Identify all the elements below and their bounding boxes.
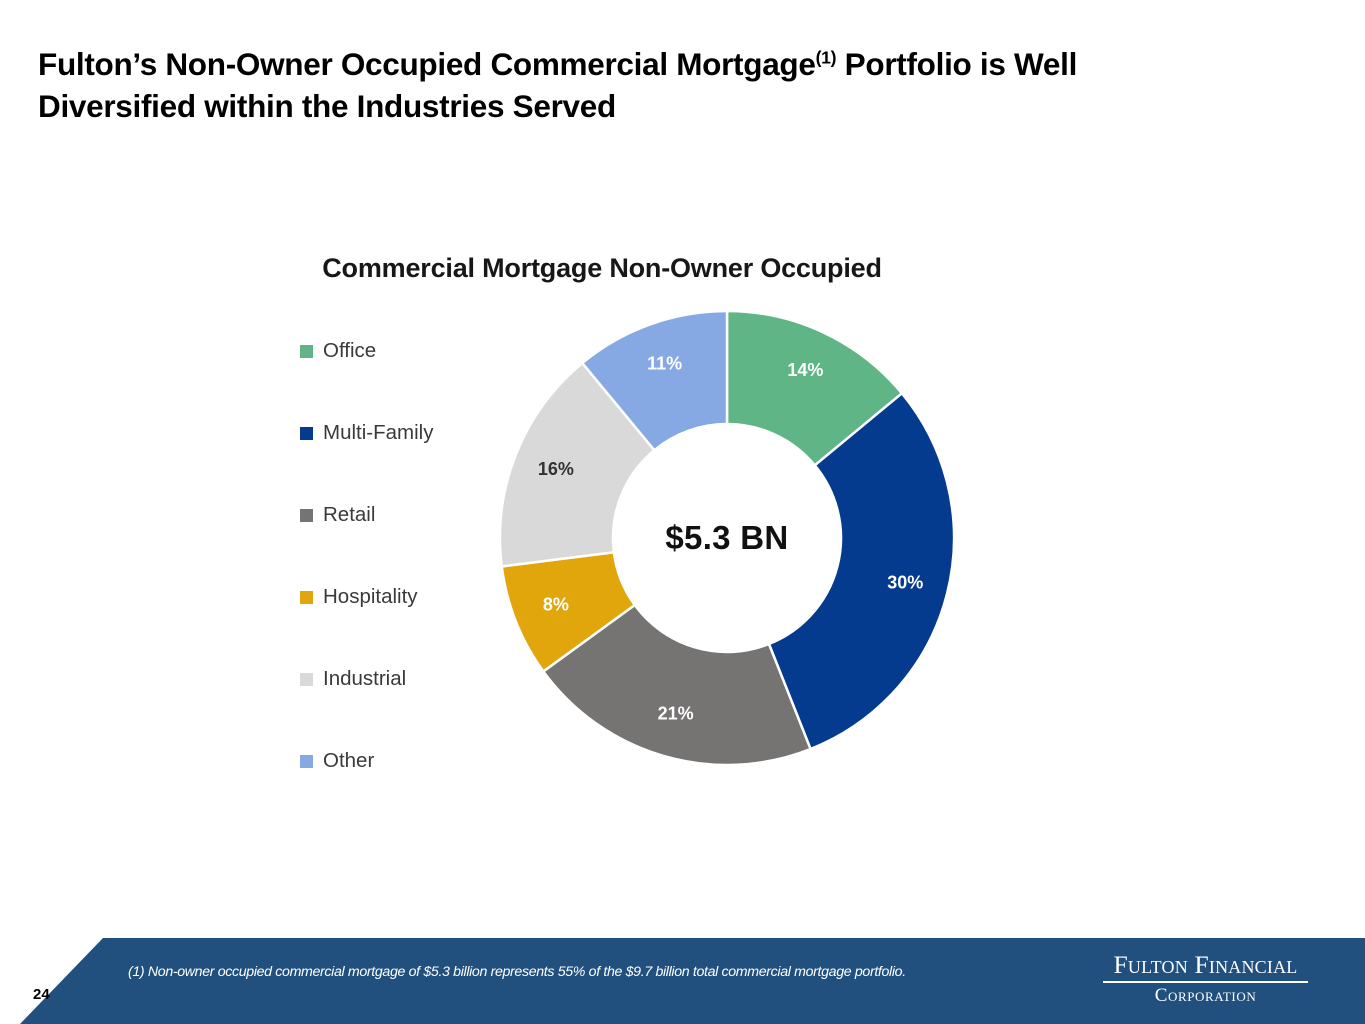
legend-item-label: Industrial xyxy=(323,668,406,690)
donut-slice-label: 21% xyxy=(658,704,694,724)
legend-swatch-icon xyxy=(300,673,313,686)
legend-item-other[interactable]: Other xyxy=(300,750,490,832)
legend-item-label: Office xyxy=(323,340,376,362)
legend-swatch-icon xyxy=(300,755,313,768)
donut-chart-svg: 14%30%21%8%16%11% xyxy=(498,309,956,767)
legend-item-hospitality[interactable]: Hospitality xyxy=(300,586,490,668)
legend-item-label: Hospitality xyxy=(323,586,418,608)
slide-canvas: Fulton’s Non-Owner Occupied Commercial M… xyxy=(0,0,1365,1024)
legend-item-retail[interactable]: Retail xyxy=(300,504,490,586)
footnote-text: (1) Non-owner occupied commercial mortga… xyxy=(128,964,906,980)
fulton-financial-logo: Fulton Financial Corporation xyxy=(1103,952,1308,1005)
donut-slice-label: 30% xyxy=(887,573,923,593)
donut-slice-label: 14% xyxy=(787,360,823,380)
legend-swatch-icon xyxy=(300,509,313,522)
chart-container: Commercial Mortgage Non-Owner Occupied O… xyxy=(0,0,1365,930)
donut-slice-label: 8% xyxy=(543,595,569,615)
legend-item-multi-family[interactable]: Multi-Family xyxy=(300,422,490,504)
legend-swatch-icon xyxy=(300,427,313,440)
legend-item-industrial[interactable]: Industrial xyxy=(300,668,490,750)
logo-line-1: Fulton Financial xyxy=(1103,952,1308,979)
donut-chart: 14%30%21%8%16%11% $5.3 BN xyxy=(498,309,956,767)
legend-item-label: Retail xyxy=(323,504,375,526)
logo-line-2: Corporation xyxy=(1103,986,1308,1005)
logo-divider xyxy=(1103,981,1308,983)
page-number: 24 xyxy=(33,986,50,1003)
legend-swatch-icon xyxy=(300,345,313,358)
legend-item-label: Multi-Family xyxy=(323,422,433,444)
donut-slice-label: 11% xyxy=(647,354,682,374)
chart-title: Commercial Mortgage Non-Owner Occupied xyxy=(272,253,932,284)
slide-footer: (1) Non-owner occupied commercial mortga… xyxy=(0,938,1365,1024)
legend-swatch-icon xyxy=(300,591,313,604)
donut-slice-label: 16% xyxy=(538,459,574,479)
chart-legend: Office Multi-Family Retail Hospitality I… xyxy=(300,340,490,832)
legend-item-label: Other xyxy=(323,750,374,772)
legend-item-office[interactable]: Office xyxy=(300,340,490,422)
